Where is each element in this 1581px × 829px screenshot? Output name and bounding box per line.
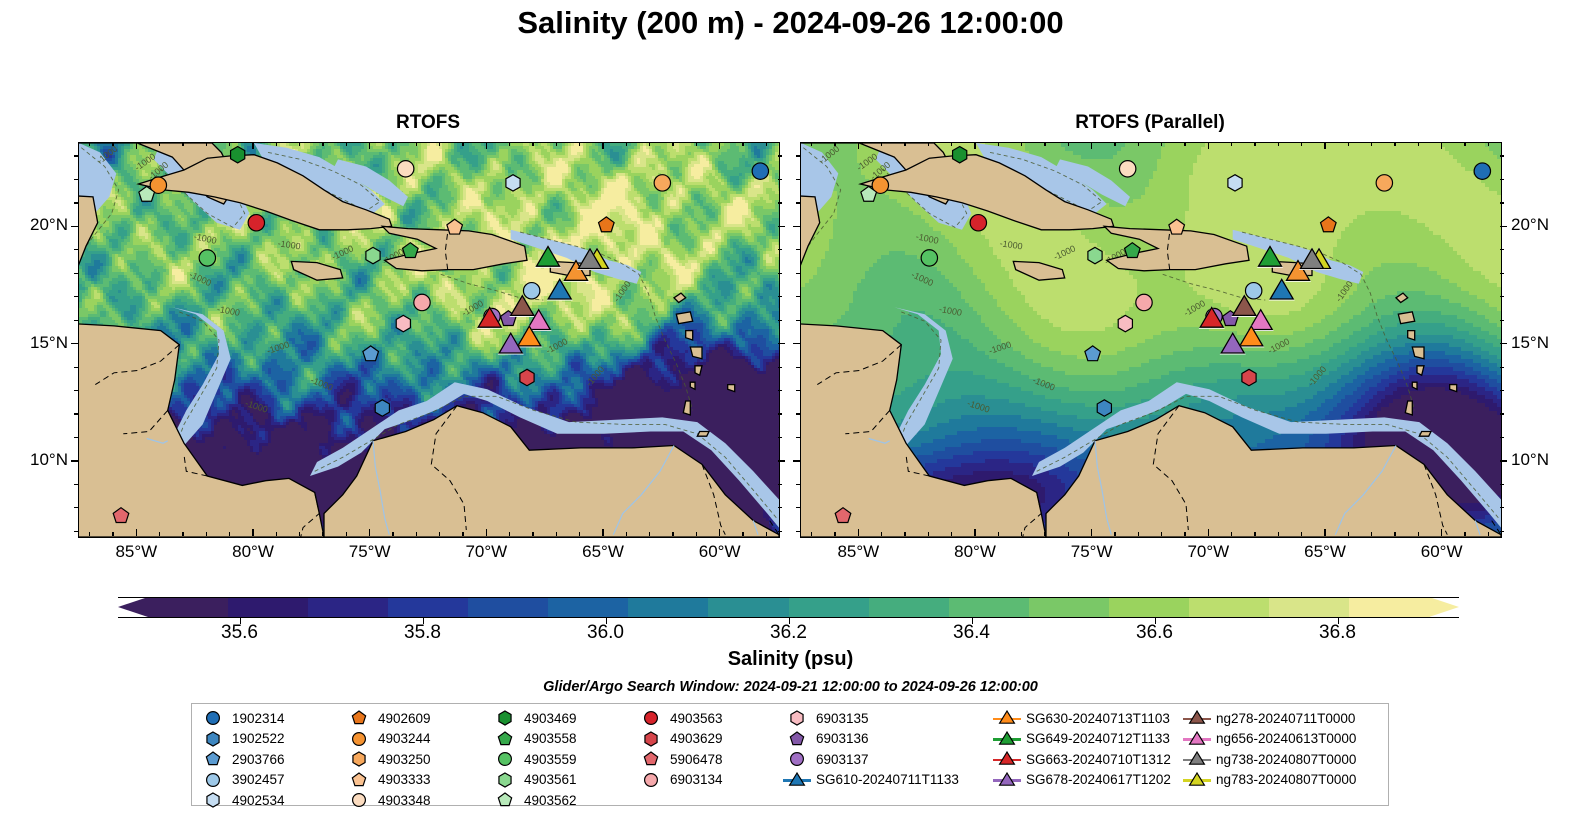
y-tick-minor	[778, 179, 782, 180]
argo-marker	[1088, 247, 1102, 263]
legend-label: 1902522	[228, 731, 285, 746]
argo-marker	[1228, 175, 1242, 191]
legend-item[interactable]: SG610-20240711T1133	[782, 770, 959, 791]
x-tick-minor	[1161, 532, 1162, 536]
y-tick-major	[1500, 226, 1507, 227]
platform-markers	[801, 143, 1501, 537]
legend-item[interactable]: 4903629	[636, 729, 723, 750]
x-tick-minor	[998, 532, 999, 536]
x-tick-minor	[299, 142, 300, 146]
y-tick-minor	[796, 390, 800, 391]
legend-label: 4903250	[374, 752, 431, 767]
legend-label: SG663-20240710T1312	[1022, 752, 1171, 767]
legend-label: 6903135	[812, 711, 869, 726]
legend-item[interactable]: ng738-20240807T0000	[1182, 749, 1356, 770]
y-tick-minor	[778, 296, 782, 297]
argo-marker	[447, 219, 463, 234]
legend-item[interactable]: 4903348	[344, 790, 431, 811]
y-tick-minor	[796, 367, 800, 368]
x-tick-major	[486, 142, 487, 149]
legend-item[interactable]: 3902457	[198, 770, 285, 791]
y-tick-major	[1500, 460, 1507, 461]
legend-item[interactable]: 2903766	[198, 749, 285, 770]
legend-item[interactable]: 4902609	[344, 708, 431, 729]
x-tick-minor	[696, 142, 697, 146]
x-tick-minor	[182, 532, 183, 536]
y-tick-minor	[778, 413, 782, 414]
x-tick-minor	[1301, 532, 1302, 536]
argo-marker	[520, 369, 534, 385]
y-tick-major	[793, 226, 800, 227]
legend-item[interactable]: 4903333	[344, 770, 431, 791]
argo-marker	[113, 508, 129, 523]
legend-column: 4903563490362959064786903134	[636, 708, 723, 790]
argo-marker	[1169, 219, 1185, 234]
x-tick-minor	[89, 532, 90, 536]
argo-marker	[921, 250, 937, 266]
y-tick-minor	[796, 155, 800, 156]
legend-label: 4903629	[666, 731, 723, 746]
legend-label: 4903562	[520, 793, 577, 808]
legend-item[interactable]: SG678-20240617T1202	[992, 770, 1171, 791]
x-tick-minor	[766, 532, 767, 536]
argo-marker	[403, 243, 419, 258]
legend-label: 4903469	[520, 711, 577, 726]
x-tick-minor	[672, 532, 673, 536]
legend-label: ng278-20240711T0000	[1212, 711, 1355, 726]
x-tick-major	[974, 142, 975, 149]
argo-marker	[366, 247, 380, 263]
legend-marker-hexagon-icon	[198, 790, 228, 810]
x-tick-minor	[206, 142, 207, 146]
x-tick-major	[136, 529, 137, 536]
argo-marker	[953, 147, 967, 163]
x-tick-minor	[1114, 142, 1115, 146]
y-tick-minor	[74, 413, 78, 414]
glider-marker	[1259, 246, 1282, 266]
legend-label: 1902314	[228, 711, 285, 726]
legend-marker-hexagon-icon	[344, 749, 374, 769]
y-tick-minor	[74, 296, 78, 297]
argo-marker	[1136, 294, 1152, 310]
glider-marker	[537, 246, 560, 266]
argo-marker	[1118, 315, 1132, 331]
legend-marker-pentagon-icon	[636, 749, 666, 769]
x-tick-minor	[1254, 532, 1255, 536]
x-tick-minor	[672, 142, 673, 146]
legend-marker-circle-icon	[636, 708, 666, 728]
x-tick-minor	[322, 532, 323, 536]
legend-item[interactable]: 4903558	[490, 729, 577, 750]
x-tick-minor	[1254, 142, 1255, 146]
y-tick-major	[793, 460, 800, 461]
colorbar-tick-label: 36.6	[1110, 622, 1200, 644]
y-tick-minor	[1500, 437, 1504, 438]
glider-marker	[548, 279, 571, 299]
argo-marker	[1376, 175, 1392, 191]
x-tick-minor	[766, 142, 767, 146]
x-tick-minor	[392, 142, 393, 146]
x-axis-label: 65°W	[563, 542, 643, 562]
argo-marker	[1119, 161, 1135, 177]
legend-marker-triangle-line-icon	[992, 749, 1022, 769]
legend-column: ng278-20240711T0000ng656-20240613T0000ng…	[1182, 708, 1356, 790]
legend-item[interactable]: SG663-20240710T1312	[992, 749, 1171, 770]
x-tick-major	[369, 142, 370, 149]
y-tick-minor	[1500, 273, 1504, 274]
x-tick-minor	[1348, 142, 1349, 146]
legend-item[interactable]: 4903561	[490, 770, 577, 791]
x-tick-minor	[276, 142, 277, 146]
y-tick-minor	[1500, 249, 1504, 250]
x-tick-minor	[532, 532, 533, 536]
x-tick-minor	[928, 532, 929, 536]
x-tick-minor	[1488, 142, 1489, 146]
legend-column: 49034694903558490355949035614903562	[490, 708, 577, 811]
legend-item[interactable]: 5906478	[636, 749, 723, 770]
legend-label: SG649-20240712T1133	[1022, 731, 1170, 746]
y-tick-minor	[1500, 296, 1504, 297]
x-axis-label: 70°W	[1168, 542, 1248, 562]
legend-item[interactable]: SG630-20240713T1103	[992, 708, 1171, 729]
x-tick-major	[1091, 529, 1092, 536]
y-tick-minor	[74, 507, 78, 508]
legend-marker-triangle-line-icon	[992, 729, 1022, 749]
colorbar-tick-label: 36.0	[561, 622, 651, 644]
x-axis-label: 85°W	[818, 542, 898, 562]
y-tick-minor	[1500, 202, 1504, 203]
argo-marker	[248, 215, 264, 231]
x-tick-minor	[998, 142, 999, 146]
legend-item[interactable]: 1902314	[198, 708, 285, 729]
x-tick-minor	[1371, 142, 1372, 146]
legend-marker-triangle-line-icon	[1182, 749, 1212, 769]
legend-item[interactable]: 4902534	[198, 790, 285, 811]
x-tick-major	[136, 142, 137, 149]
x-tick-minor	[626, 532, 627, 536]
argo-marker	[363, 346, 379, 361]
x-tick-minor	[1488, 532, 1489, 536]
y-tick-minor	[796, 437, 800, 438]
legend-label: 3902457	[228, 772, 285, 787]
x-tick-major	[1324, 529, 1325, 536]
legend-label: 4903558	[520, 731, 577, 746]
x-tick-minor	[556, 532, 557, 536]
colorbar-outline	[118, 597, 1459, 618]
y-tick-minor	[74, 249, 78, 250]
x-tick-major	[1091, 142, 1092, 149]
colorbar-tick-label: 35.8	[378, 622, 468, 644]
legend-marker-circle-icon	[198, 708, 228, 728]
legend-label: 4903244	[374, 731, 431, 746]
argo-marker	[599, 217, 615, 232]
argo-marker	[654, 175, 670, 191]
legend-marker-pentagon-icon	[344, 708, 374, 728]
x-tick-minor	[462, 142, 463, 146]
legend-marker-hexagon-icon	[490, 770, 520, 790]
legend-label: 4902534	[228, 793, 285, 808]
x-tick-minor	[1231, 532, 1232, 536]
legend-label: 6903137	[812, 752, 869, 767]
argo-marker	[375, 400, 389, 416]
x-tick-minor	[346, 142, 347, 146]
legend-label: 4903348	[374, 793, 431, 808]
legend-marker-circle-icon	[490, 749, 520, 769]
legend-item[interactable]: 6903134	[636, 770, 723, 791]
x-tick-major	[602, 529, 603, 536]
x-tick-minor	[1044, 142, 1045, 146]
panel-title-right: RTOFS (Parallel)	[800, 112, 1500, 134]
legend-marker-circle-icon	[344, 729, 374, 749]
x-tick-minor	[159, 532, 160, 536]
legend-label: 6903134	[666, 772, 723, 787]
x-tick-minor	[649, 532, 650, 536]
legend-label: 4903559	[520, 752, 577, 767]
y-tick-major	[793, 343, 800, 344]
legend-item[interactable]: 4903562	[490, 790, 577, 811]
legend-column: SG630-20240713T1103SG649-20240712T1133SG…	[992, 708, 1171, 790]
x-axis-label: 75°W	[1052, 542, 1132, 562]
x-tick-major	[369, 529, 370, 536]
legend-marker-pentagon-icon	[490, 790, 520, 810]
y-tick-major	[71, 343, 78, 344]
y-tick-major	[71, 226, 78, 227]
x-tick-minor	[1301, 142, 1302, 146]
argo-marker	[1245, 283, 1261, 299]
legend-column: 690313569031366903137SG610-20240711T1133	[782, 708, 959, 790]
legend: 1902314190252229037663902457490253449026…	[191, 703, 1389, 806]
x-tick-major	[252, 529, 253, 536]
y-tick-major	[71, 460, 78, 461]
legend-item[interactable]: 4903563	[636, 708, 723, 729]
y-tick-minor	[796, 507, 800, 508]
argo-marker	[752, 163, 768, 179]
legend-label: 6903136	[812, 731, 869, 746]
x-tick-minor	[696, 532, 697, 536]
legend-label: ng783-20240807T0000	[1212, 772, 1356, 787]
page-title: Salinity (200 m) - 2024-09-26 12:00:00	[0, 5, 1581, 41]
x-tick-minor	[742, 142, 743, 146]
x-tick-minor	[276, 532, 277, 536]
legend-item[interactable]: ng278-20240711T0000	[1182, 708, 1356, 729]
y-tick-minor	[74, 273, 78, 274]
y-tick-minor	[778, 249, 782, 250]
argo-marker	[1321, 217, 1337, 232]
x-tick-major	[1208, 142, 1209, 149]
legend-item[interactable]: 4903244	[344, 729, 431, 750]
x-axis-label: 70°W	[446, 542, 526, 562]
y-tick-minor	[778, 273, 782, 274]
legend-column: 49026094903244490325049033334903348	[344, 708, 431, 811]
y-axis-label: 20°N	[0, 215, 68, 235]
colorbar-title: Salinity (psu)	[0, 648, 1581, 671]
x-tick-minor	[881, 532, 882, 536]
y-tick-minor	[778, 484, 782, 485]
legend-item[interactable]: 4903250	[344, 749, 431, 770]
y-tick-minor	[74, 484, 78, 485]
y-tick-minor	[74, 437, 78, 438]
x-tick-minor	[1418, 532, 1419, 536]
legend-item[interactable]: ng783-20240807T0000	[1182, 770, 1356, 791]
x-axis-label: 85°W	[96, 542, 176, 562]
x-axis-label: 60°W	[680, 542, 760, 562]
map-panel-rtofs[interactable]: -1000-1000-1000-1000-1000-1000-1000-1000…	[78, 142, 780, 538]
x-tick-minor	[206, 532, 207, 536]
x-tick-minor	[1021, 532, 1022, 536]
legend-marker-circle-icon	[198, 770, 228, 790]
y-tick-minor	[778, 202, 782, 203]
x-tick-minor	[811, 532, 812, 536]
legend-label: 4903561	[520, 772, 577, 787]
argo-marker	[835, 508, 851, 523]
legend-label: 2903766	[228, 752, 285, 767]
x-tick-minor	[509, 142, 510, 146]
x-axis-label: 80°W	[935, 542, 1015, 562]
argo-marker	[396, 315, 410, 331]
legend-marker-circle-icon	[344, 790, 374, 810]
x-tick-minor	[1464, 532, 1465, 536]
argo-marker	[1474, 163, 1490, 179]
legend-item[interactable]: 4903469	[490, 708, 577, 729]
x-tick-minor	[834, 532, 835, 536]
y-tick-minor	[74, 367, 78, 368]
x-tick-minor	[834, 142, 835, 146]
colorbar-tick-label: 36.4	[927, 622, 1017, 644]
x-axis-label: 65°W	[1285, 542, 1365, 562]
x-tick-minor	[742, 532, 743, 536]
map-panel-rtofs-parallel[interactable]: -1000-1000-1000-1000-1000-1000-1000-1000…	[800, 142, 1502, 538]
y-tick-minor	[74, 179, 78, 180]
y-tick-minor	[1500, 531, 1504, 532]
y-tick-minor	[1500, 507, 1504, 508]
legend-marker-hexagon-icon	[490, 708, 520, 728]
x-tick-minor	[881, 142, 882, 146]
x-tick-major	[858, 142, 859, 149]
y-tick-minor	[778, 437, 782, 438]
x-tick-minor	[416, 142, 417, 146]
legend-marker-hexagon-icon	[782, 708, 812, 728]
legend-label: 4903563	[666, 711, 723, 726]
x-tick-minor	[1138, 532, 1139, 536]
x-tick-minor	[951, 532, 952, 536]
legend-marker-pentagon-icon	[198, 749, 228, 769]
colorbar-tick-label: 36.8	[1293, 622, 1383, 644]
legend-marker-triangle-line-icon	[1182, 708, 1212, 728]
legend-marker-pentagon-icon	[782, 729, 812, 749]
legend-item[interactable]: SG649-20240712T1133	[992, 729, 1171, 750]
y-tick-minor	[74, 531, 78, 532]
legend-marker-circle-icon	[782, 749, 812, 769]
x-tick-major	[486, 529, 487, 536]
x-axis-label: 80°W	[213, 542, 293, 562]
y-tick-major	[1500, 343, 1507, 344]
x-tick-major	[252, 142, 253, 149]
x-tick-minor	[928, 142, 929, 146]
x-tick-minor	[439, 142, 440, 146]
x-tick-minor	[1371, 532, 1372, 536]
y-axis-label: 15°N	[1511, 333, 1549, 353]
legend-marker-hexagon-icon	[636, 729, 666, 749]
x-tick-major	[602, 142, 603, 149]
legend-marker-triangle-line-icon	[782, 770, 812, 790]
x-tick-minor	[1464, 142, 1465, 146]
argo-marker	[1085, 346, 1101, 361]
y-tick-major	[778, 343, 785, 344]
x-tick-minor	[1348, 532, 1349, 536]
x-tick-minor	[229, 532, 230, 536]
x-tick-minor	[556, 142, 557, 146]
x-tick-minor	[1138, 142, 1139, 146]
glider-marker	[1270, 279, 1293, 299]
x-tick-minor	[626, 142, 627, 146]
argo-marker	[397, 161, 413, 177]
y-tick-minor	[1500, 390, 1504, 391]
y-tick-minor	[796, 413, 800, 414]
panel-title-left: RTOFS	[78, 112, 778, 134]
x-axis-label: 60°W	[1402, 542, 1482, 562]
argo-marker	[414, 294, 430, 310]
argo-marker	[199, 250, 215, 266]
platform-markers	[79, 143, 779, 537]
x-tick-minor	[462, 532, 463, 536]
x-tick-minor	[1394, 142, 1395, 146]
y-tick-minor	[778, 320, 782, 321]
argo-marker	[1097, 400, 1111, 416]
y-tick-minor	[796, 531, 800, 532]
search-window-caption: Glider/Argo Search Window: 2024-09-21 12…	[0, 679, 1581, 695]
x-tick-minor	[1184, 532, 1185, 536]
legend-column: 19023141902522290376639024574902534	[198, 708, 285, 811]
x-tick-minor	[346, 532, 347, 536]
legend-item[interactable]: 1902522	[198, 729, 285, 750]
x-tick-minor	[392, 532, 393, 536]
argo-marker	[506, 175, 520, 191]
x-tick-minor	[1278, 532, 1279, 536]
y-axis-label: 20°N	[1511, 215, 1549, 235]
legend-label: ng738-20240807T0000	[1212, 752, 1356, 767]
x-tick-minor	[579, 142, 580, 146]
y-tick-minor	[74, 202, 78, 203]
legend-item[interactable]: ng656-20240613T0000	[1182, 729, 1356, 750]
legend-item[interactable]: 6903137	[782, 749, 959, 770]
legend-marker-pentagon-icon	[490, 729, 520, 749]
x-tick-major	[1208, 529, 1209, 536]
y-tick-minor	[1500, 320, 1504, 321]
x-tick-minor	[416, 532, 417, 536]
y-tick-minor	[778, 367, 782, 368]
colorbar-tick-label: 36.2	[744, 622, 834, 644]
x-axis-label: 75°W	[330, 542, 410, 562]
legend-item[interactable]: 6903136	[782, 729, 959, 750]
y-tick-minor	[74, 390, 78, 391]
y-tick-minor	[1500, 367, 1504, 368]
y-tick-minor	[778, 531, 782, 532]
x-tick-minor	[904, 532, 905, 536]
y-tick-minor	[778, 155, 782, 156]
y-tick-minor	[1500, 179, 1504, 180]
x-tick-minor	[1068, 532, 1069, 536]
x-tick-major	[858, 529, 859, 536]
x-tick-minor	[159, 142, 160, 146]
legend-marker-circle-icon	[636, 770, 666, 790]
argo-marker	[970, 215, 986, 231]
argo-marker	[523, 283, 539, 299]
y-tick-minor	[796, 202, 800, 203]
legend-item[interactable]: 6903135	[782, 708, 959, 729]
x-tick-major	[1441, 142, 1442, 149]
legend-item[interactable]: 4903559	[490, 749, 577, 770]
legend-label: 5906478	[666, 752, 723, 767]
